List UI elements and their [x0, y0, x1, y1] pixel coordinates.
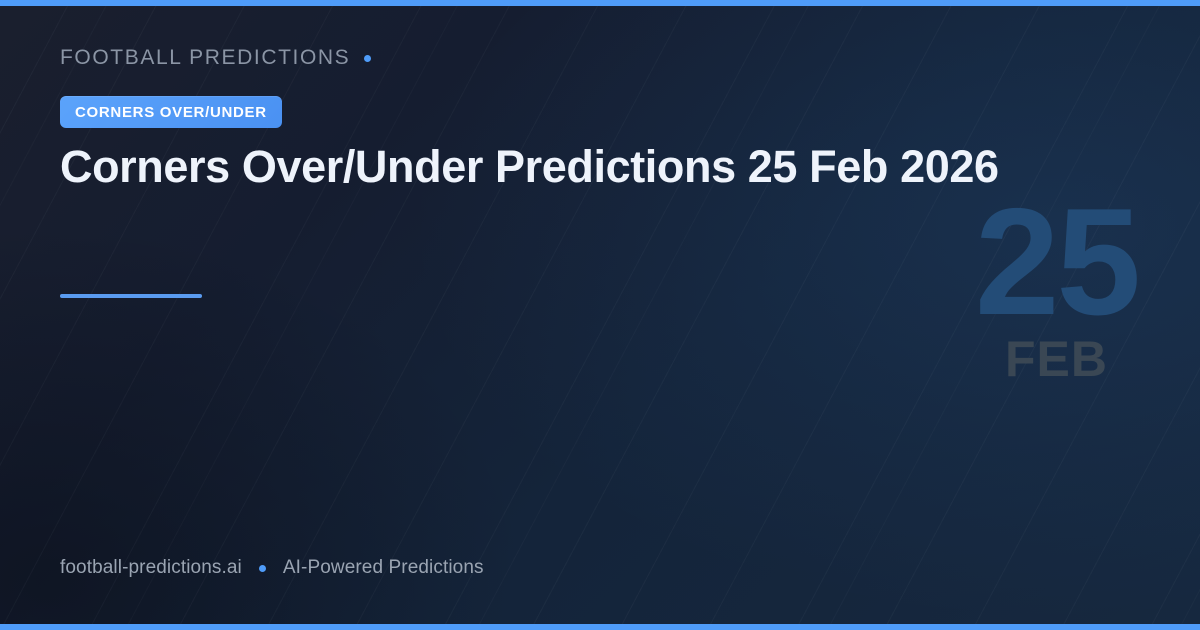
eyebrow-label: FOOTBALL PREDICTIONS — [60, 46, 350, 70]
bullet-dot-icon — [364, 55, 371, 62]
eyebrow: FOOTBALL PREDICTIONS — [60, 46, 371, 70]
category-badge-label: CORNERS OVER/UNDER — [75, 104, 267, 121]
footer: football-predictions.ai AI-Powered Predi… — [60, 557, 484, 579]
page-title: Corners Over/Under Predictions 25 Feb 20… — [60, 141, 1070, 194]
accent-underline — [60, 294, 202, 298]
footer-tagline: AI-Powered Predictions — [283, 557, 484, 579]
category-badge[interactable]: CORNERS OVER/UNDER — [60, 96, 282, 128]
og-share-card: 25 FEB FOOTBALL PREDICTIONS CORNERS OVER… — [0, 0, 1200, 630]
bottom-accent-bar — [0, 624, 1200, 630]
top-accent-bar — [0, 0, 1200, 6]
card-content: FOOTBALL PREDICTIONS CORNERS OVER/UNDER … — [60, 0, 1120, 630]
footer-site-name: football-predictions.ai — [60, 557, 242, 579]
bullet-dot-icon — [259, 565, 266, 572]
